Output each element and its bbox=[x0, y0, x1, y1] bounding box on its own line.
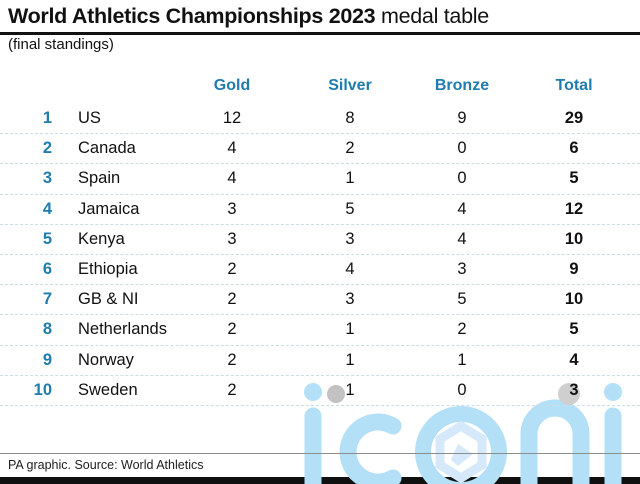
table-row: 4 Jamaica 3 5 4 12 bbox=[0, 195, 640, 225]
title-block: World Athletics Championships 2023 medal… bbox=[0, 0, 640, 35]
column-header-bronze: Bronze bbox=[424, 77, 500, 95]
row-gold: 3 bbox=[194, 230, 270, 249]
row-rank: 8 bbox=[0, 320, 52, 339]
footer-credit: PA graphic. Source: World Athletics bbox=[8, 458, 203, 472]
row-rank: 10 bbox=[0, 381, 52, 400]
row-gold: 4 bbox=[194, 169, 270, 188]
row-silver: 3 bbox=[312, 290, 388, 309]
table-row: 6 Ethiopia 2 4 3 9 bbox=[0, 255, 640, 285]
row-gold: 2 bbox=[194, 290, 270, 309]
table-row: 5 Kenya 3 3 4 10 bbox=[0, 225, 640, 255]
row-total: 3 bbox=[536, 381, 612, 400]
row-bronze: 2 bbox=[424, 320, 500, 339]
row-gold: 2 bbox=[194, 260, 270, 279]
row-rank: 9 bbox=[0, 351, 52, 370]
row-bronze: 0 bbox=[424, 381, 500, 400]
row-gold: 3 bbox=[194, 200, 270, 219]
table-row: 10 Sweden 2 1 0 3 bbox=[0, 376, 640, 406]
medal-table-graphic: World Athletics Championships 2023 medal… bbox=[0, 0, 640, 484]
row-country: Kenya bbox=[78, 230, 125, 249]
row-rank: 2 bbox=[0, 139, 52, 158]
column-header-total: Total bbox=[536, 77, 612, 95]
row-total: 9 bbox=[536, 260, 612, 279]
table-row: 9 Norway 2 1 1 4 bbox=[0, 346, 640, 376]
row-country: Canada bbox=[78, 139, 136, 158]
row-silver: 3 bbox=[312, 230, 388, 249]
row-silver: 4 bbox=[312, 260, 388, 279]
row-rank: 6 bbox=[0, 260, 52, 279]
row-total: 12 bbox=[536, 200, 612, 219]
row-rank: 4 bbox=[0, 200, 52, 219]
row-country: Ethiopia bbox=[78, 260, 138, 279]
row-bronze: 4 bbox=[424, 230, 500, 249]
row-country: Norway bbox=[78, 351, 134, 370]
row-bronze: 5 bbox=[424, 290, 500, 309]
row-country: Netherlands bbox=[78, 320, 167, 339]
footer-divider bbox=[0, 453, 640, 454]
row-country: Spain bbox=[78, 169, 120, 188]
row-rank: 5 bbox=[0, 230, 52, 249]
row-gold: 2 bbox=[194, 320, 270, 339]
medal-table: Gold Silver Bronze Total 1 US 12 8 9 29 … bbox=[0, 72, 640, 406]
row-total: 10 bbox=[536, 290, 612, 309]
row-silver: 1 bbox=[312, 169, 388, 188]
row-total: 10 bbox=[536, 230, 612, 249]
page-subtitle: (final standings) bbox=[8, 36, 114, 53]
page-title: World Athletics Championships 2023 medal… bbox=[8, 5, 632, 28]
row-total: 5 bbox=[536, 169, 612, 188]
row-bronze: 0 bbox=[424, 169, 500, 188]
page-title-main: World Athletics Championships 2023 bbox=[8, 4, 375, 28]
row-silver: 1 bbox=[312, 320, 388, 339]
row-silver: 1 bbox=[312, 351, 388, 370]
table-row: 1 US 12 8 9 29 bbox=[0, 104, 640, 134]
row-total: 5 bbox=[536, 320, 612, 339]
row-total: 6 bbox=[536, 139, 612, 158]
row-rank: 7 bbox=[0, 290, 52, 309]
row-bronze: 3 bbox=[424, 260, 500, 279]
row-bronze: 0 bbox=[424, 139, 500, 158]
table-row: 8 Netherlands 2 1 2 5 bbox=[0, 315, 640, 345]
row-gold: 2 bbox=[194, 381, 270, 400]
row-bronze: 9 bbox=[424, 109, 500, 128]
row-gold: 12 bbox=[194, 109, 270, 128]
row-silver: 8 bbox=[312, 109, 388, 128]
row-gold: 4 bbox=[194, 139, 270, 158]
row-bronze: 4 bbox=[424, 200, 500, 219]
table-row: 7 GB & NI 2 3 5 10 bbox=[0, 285, 640, 315]
column-header-silver: Silver bbox=[312, 77, 388, 95]
row-total: 29 bbox=[536, 109, 612, 128]
column-header-gold: Gold bbox=[194, 77, 270, 95]
row-country: Jamaica bbox=[78, 200, 139, 219]
row-rank: 1 bbox=[0, 109, 52, 128]
row-country: US bbox=[78, 109, 101, 128]
row-country: GB & NI bbox=[78, 290, 139, 309]
hexagon-icon bbox=[440, 426, 482, 478]
row-silver: 5 bbox=[312, 200, 388, 219]
row-total: 4 bbox=[536, 351, 612, 370]
row-gold: 2 bbox=[194, 351, 270, 370]
row-silver: 1 bbox=[312, 381, 388, 400]
page-title-suffix: medal table bbox=[375, 4, 489, 28]
row-bronze: 1 bbox=[424, 351, 500, 370]
row-country: Sweden bbox=[78, 381, 138, 400]
row-rank: 3 bbox=[0, 169, 52, 188]
row-silver: 2 bbox=[312, 139, 388, 158]
table-row: 2 Canada 4 2 0 6 bbox=[0, 134, 640, 164]
table-header-row: Gold Silver Bronze Total bbox=[0, 72, 640, 104]
table-row: 3 Spain 4 1 0 5 bbox=[0, 164, 640, 194]
